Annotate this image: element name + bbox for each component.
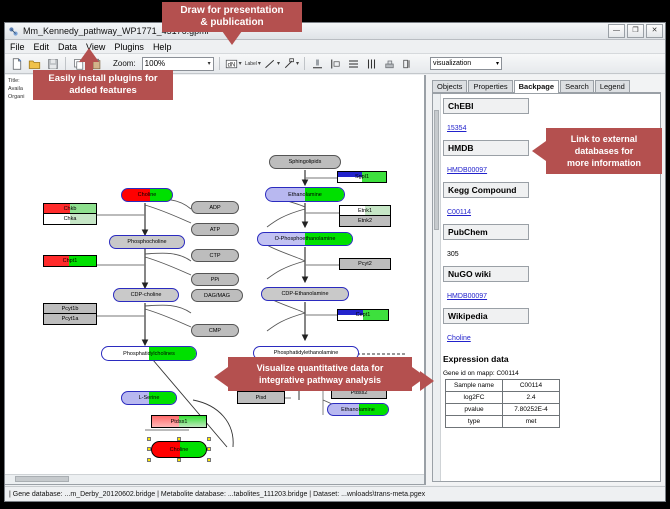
screenshot-root: Mm_Kennedy_pathway_WP1771_45176.gpml — ❐… (0, 0, 670, 509)
label-tool[interactable]: Label ▾ (245, 60, 261, 67)
resize-handle-n[interactable] (177, 437, 181, 441)
db-link-kegg[interactable]: C00114 (447, 209, 471, 216)
callout-links-line1: Link to external (571, 133, 638, 145)
chevron-down-icon: ▾ (258, 60, 261, 67)
menu-help[interactable]: Help (153, 42, 172, 52)
selection-group[interactable]: Choline (151, 441, 207, 458)
cell-value: 7.80252E-4 (503, 404, 560, 416)
callout-visualize: Visualize quantitative data for integrat… (228, 357, 412, 391)
node-choline-top[interactable]: Choline (121, 188, 173, 202)
node-label: CMP (209, 328, 221, 334)
canvas-hscrollbar[interactable] (5, 474, 424, 484)
node-cmp[interactable]: CMP (191, 324, 239, 337)
status-bar: | Gene database: ...m_Derby_20120602.bri… (5, 486, 665, 501)
node-phosphocholine[interactable]: Phosphocholine (109, 235, 185, 249)
gene-group-pcyt1[interactable]: Pcyt1b Pcyt1a (43, 303, 97, 325)
align-left-icon[interactable] (328, 56, 343, 71)
callout-expression-arrow-icon (420, 371, 434, 391)
tab-properties[interactable]: Properties (468, 80, 512, 92)
gene-chka[interactable]: Chka (43, 214, 97, 225)
resize-handle-e[interactable] (207, 447, 211, 451)
canvas-hscroll-thumb[interactable] (15, 476, 69, 482)
cell-value: met (503, 416, 560, 428)
meta-availability: Availa (8, 85, 25, 93)
db-header-wikipedia: Wikipedia (443, 308, 529, 324)
menu-bar: File Edit Data View Plugins Help (5, 40, 665, 54)
title-bar: Mm_Kennedy_pathway_WP1771_45176.gpml — ❐… (5, 23, 665, 40)
db-header-pubchem: PubChem (443, 224, 529, 240)
gene-pisd[interactable]: Pisd (237, 391, 285, 404)
table-row: log2FC 2.4 (446, 392, 560, 404)
menu-plugins[interactable]: Plugins (114, 42, 144, 52)
callout-plugins-arrow-icon (79, 48, 99, 62)
open-folder-icon[interactable] (27, 56, 42, 71)
node-ethanolamine-lower[interactable]: Ethanolamine (327, 403, 389, 416)
meta-title: Title: (8, 77, 25, 85)
callout-plugins-line1: Easily install plugins for (48, 73, 157, 85)
db-link-chebi[interactable]: 15354 (447, 125, 466, 132)
close-button[interactable]: ✕ (646, 24, 663, 38)
order-icon[interactable] (400, 56, 415, 71)
tab-search[interactable]: Search (560, 80, 594, 92)
node-ppi[interactable]: PPi (191, 273, 239, 286)
callout-links: Link to external databases for more info… (546, 128, 662, 174)
align-bottom-icon[interactable] (310, 56, 325, 71)
table-row: pvalue 7.80252E-4 (446, 404, 560, 416)
gene-pcyt2[interactable]: Pcyt2 (339, 258, 391, 270)
gene-sgpl1[interactable]: Sgpl1 (337, 171, 387, 183)
node-label: O-Phosphoethanolamine (275, 236, 336, 242)
menu-edit[interactable]: Edit (34, 42, 50, 52)
gene-pcyt1a[interactable]: Pcyt1a (43, 314, 97, 325)
node-atp[interactable]: ATP (191, 223, 239, 236)
resize-handle-sw[interactable] (147, 458, 151, 462)
gene-label: Pisd (256, 395, 267, 401)
maximize-button[interactable]: ❐ (627, 24, 644, 38)
gene-label: Sgpl1 (355, 174, 369, 180)
cell-key: type (446, 416, 503, 428)
chevron-down-icon: ▾ (296, 60, 299, 67)
node-label: Phosphatidylethanolamine (274, 350, 339, 356)
minimize-button[interactable]: — (608, 24, 625, 38)
toolbar-separator (65, 57, 66, 70)
gene-label: Chkb (64, 206, 77, 212)
node-label: Ethanolamine (288, 192, 322, 198)
canvas-metadata: Title: Availa Organi (8, 77, 25, 101)
status-text: | Gene database: ...m_Derby_20120602.bri… (5, 491, 425, 498)
cell-key: Sample name (446, 380, 503, 392)
cell-value: C00114 (503, 380, 560, 392)
callout-plugins-line2: added features (69, 85, 137, 97)
node-cdp-choline[interactable]: CDP-choline (113, 288, 179, 302)
side-tabs: Objects Properties Backpage Search Legen… (432, 79, 661, 93)
callout-draw-line2: & publication (200, 17, 263, 29)
save-icon[interactable] (45, 56, 60, 71)
gene-label: Pcyt2 (358, 261, 372, 267)
callout-links-line3: more information (567, 157, 641, 169)
visualization-combo[interactable]: visualization ▾ (430, 57, 502, 70)
tab-legend[interactable]: Legend (595, 80, 630, 92)
zoom-combo[interactable]: 100% ▾ (142, 57, 214, 71)
node-label: ATP (210, 227, 220, 233)
callout-visualize-arrow-left-icon (214, 367, 228, 387)
line-tool[interactable]: ▾ (264, 58, 280, 70)
callout-draw-arrow-icon (222, 31, 242, 45)
node-label: PPi (211, 277, 220, 283)
node-label: Sphingolipids (289, 159, 322, 165)
node-label: Choline (138, 192, 157, 198)
gene-label: Ptdss1 (171, 419, 188, 425)
gene-label: Etnk2 (358, 218, 372, 224)
table-row: type met (446, 416, 560, 428)
distribute-vertical-icon[interactable] (346, 56, 361, 71)
visualization-value: visualization (433, 60, 471, 67)
chevron-down-icon: ▾ (208, 60, 211, 67)
gene-label: Chpt1 (63, 258, 78, 264)
node-ctp[interactable]: CTP (191, 249, 239, 262)
expression-table: Sample name C00114 log2FC 2.4 pvalue 7.8… (445, 379, 560, 428)
pathway-canvas[interactable]: Title: Availa Organi (5, 75, 425, 485)
gene-id-line: Gene id on mapp: C00114 (443, 370, 658, 377)
node-ethanolamine[interactable]: Ethanolamine (265, 187, 345, 202)
stack-icon[interactable] (382, 56, 397, 71)
gene-chpt1[interactable]: Chpt1 (43, 255, 97, 267)
node-dagmag[interactable]: DAG/MAG (191, 289, 243, 302)
gene-ptdss1[interactable]: Ptdss1 (151, 415, 207, 428)
meta-organism: Organi (8, 93, 25, 101)
db-value-pubchem: 305 (447, 251, 459, 258)
node-label: L-Serine (139, 395, 160, 401)
gene-label: Etnk1 (358, 208, 372, 214)
gene-label: Pcyt1b (62, 306, 79, 312)
menu-data[interactable]: Data (58, 42, 77, 52)
resize-handle-w[interactable] (147, 447, 151, 451)
cell-value: 2.4 (503, 392, 560, 404)
label-tool-text: Label (245, 61, 257, 67)
resize-handle-nw[interactable] (147, 437, 151, 441)
gene-cept1[interactable]: Cept1 (337, 309, 389, 321)
pathvisio-icon (8, 26, 19, 37)
db-link-hmdb[interactable]: HMDB00097 (447, 167, 487, 174)
db-link-wikipedia[interactable]: Choline (447, 335, 471, 342)
toolbar-separator-3 (304, 57, 305, 70)
table-row: Sample name C00114 (446, 380, 560, 392)
node-adp[interactable]: ADP (191, 201, 239, 214)
db-header-hmdb: HMDB (443, 140, 529, 156)
datanode-tool[interactable]: dN ▾ (225, 58, 242, 70)
gene-group-chk[interactable]: Chkb Chka (43, 203, 97, 225)
callout-plugins: Easily install plugins for added feature… (33, 70, 173, 100)
tab-backpage[interactable]: Backpage (514, 80, 559, 93)
db-header-kegg: Kegg Compound (443, 182, 529, 198)
cell-key: pvalue (446, 404, 503, 416)
chevron-down-icon: ▾ (496, 60, 499, 67)
window-controls[interactable]: — ❐ ✕ (608, 24, 663, 38)
gene-label: Chka (64, 216, 77, 222)
gene-label: Pcyt1a (62, 316, 79, 322)
db-header-chebi: ChEBI (443, 98, 529, 114)
chevron-down-icon: ▾ (277, 60, 280, 67)
node-label: CDP-Ethanolamine (281, 291, 328, 297)
backpage-scroll-thumb[interactable] (434, 110, 439, 230)
gene-pcyt1b[interactable]: Pcyt1b (43, 303, 97, 314)
callout-draw: Draw for presentation & publication (162, 2, 302, 32)
gene-group-etnk[interactable]: Etnk1 Etnk2 (339, 205, 391, 227)
node-label: Phosphocholine (127, 239, 166, 245)
distribute-horizontal-icon[interactable] (364, 56, 379, 71)
node-sphingolipids[interactable]: Sphingolipids (269, 155, 341, 169)
db-header-nugowiki: NuGO wiki (443, 266, 529, 282)
chevron-down-icon: ▾ (239, 60, 242, 67)
callout-links-line2: databases for (575, 145, 634, 157)
svg-text:dN: dN (227, 62, 235, 68)
gene-etnk2[interactable]: Etnk2 (339, 216, 391, 227)
callout-visualize-line1: Visualize quantitative data for (257, 362, 384, 374)
zoom-label: Zoom: (113, 59, 136, 68)
expression-data-heading: Expression data (443, 354, 658, 364)
node-phosphatidylcholines[interactable]: Phosphatidylcholines (101, 346, 197, 361)
node-cdp-ethanolamine[interactable]: CDP-Ethanolamine (261, 287, 349, 301)
cell-key: log2FC (446, 392, 503, 404)
gene-etnk1[interactable]: Etnk1 (339, 205, 391, 216)
node-label: CDP-choline (131, 292, 162, 298)
resize-handle-s[interactable] (177, 458, 181, 462)
menu-file[interactable]: File (10, 42, 25, 52)
node-o-phosphoethanolamine[interactable]: O-Phosphoethanolamine (257, 232, 353, 246)
callout-visualize-line2: integrative pathway analysis (259, 374, 381, 386)
toolbar-separator-2 (219, 57, 220, 70)
node-label: Phosphatidylcholines (123, 351, 175, 357)
callout-links-arrow-icon (532, 141, 546, 161)
tab-objects[interactable]: Objects (432, 80, 467, 92)
node-label: Ethanolamine (341, 407, 375, 413)
node-label: DAG/MAG (204, 293, 230, 299)
node-l-serine-left[interactable]: L-Serine (121, 391, 177, 405)
gene-label: Cept1 (356, 312, 371, 318)
callout-draw-line1: Draw for presentation (180, 5, 283, 17)
node-choline-selected[interactable]: Choline (151, 441, 207, 458)
db-link-nugowiki[interactable]: HMDB00097 (447, 293, 487, 300)
resize-handle-ne[interactable] (207, 437, 211, 441)
node-label: ADP (209, 205, 220, 211)
backpage-scrollbar[interactable] (433, 94, 441, 481)
new-file-icon[interactable] (9, 56, 24, 71)
resize-handle-se[interactable] (207, 458, 211, 462)
node-label: CTP (210, 253, 221, 259)
zoom-value: 100% (145, 59, 165, 68)
node-label: Choline (170, 447, 189, 453)
gene-chkb[interactable]: Chkb (43, 203, 97, 214)
receptor-tool[interactable]: ▾ (283, 58, 299, 70)
